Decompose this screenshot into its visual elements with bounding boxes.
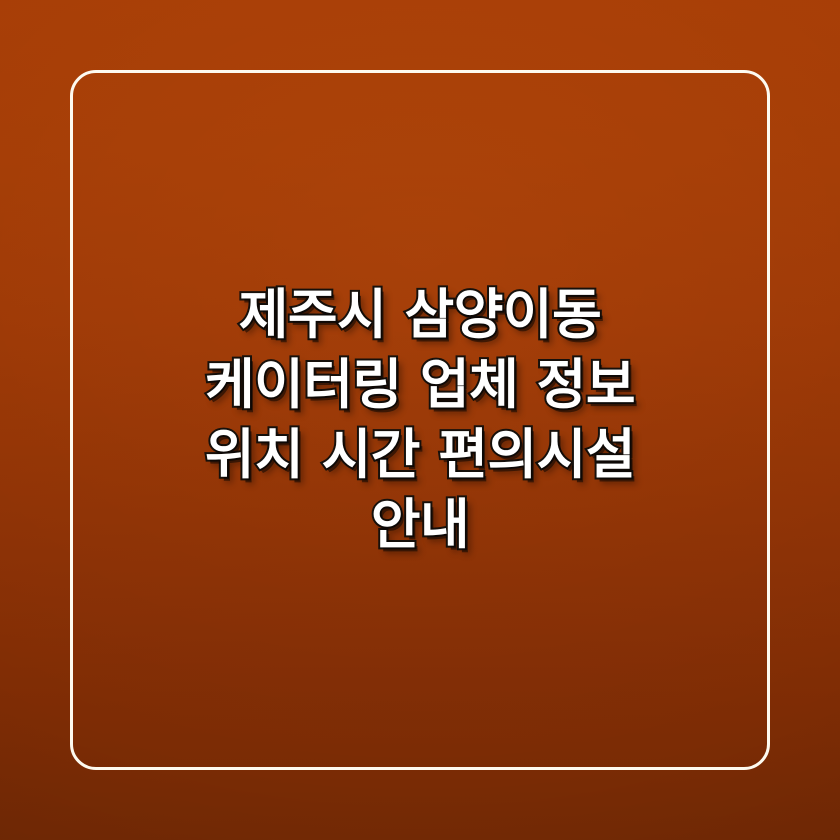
title-line-1: 제주시 삼양이동	[78, 280, 762, 350]
title-line-4: 안내	[78, 490, 762, 560]
title-block: 제주시 삼양이동 케이터링 업체 정보 위치 시간 편의시설 안내	[0, 0, 840, 840]
title-line-3: 위치 시간 편의시설	[78, 420, 762, 490]
title-line-2: 케이터링 업체 정보	[78, 350, 762, 420]
poster-canvas: 제주시 삼양이동 케이터링 업체 정보 위치 시간 편의시설 안내	[0, 0, 840, 840]
